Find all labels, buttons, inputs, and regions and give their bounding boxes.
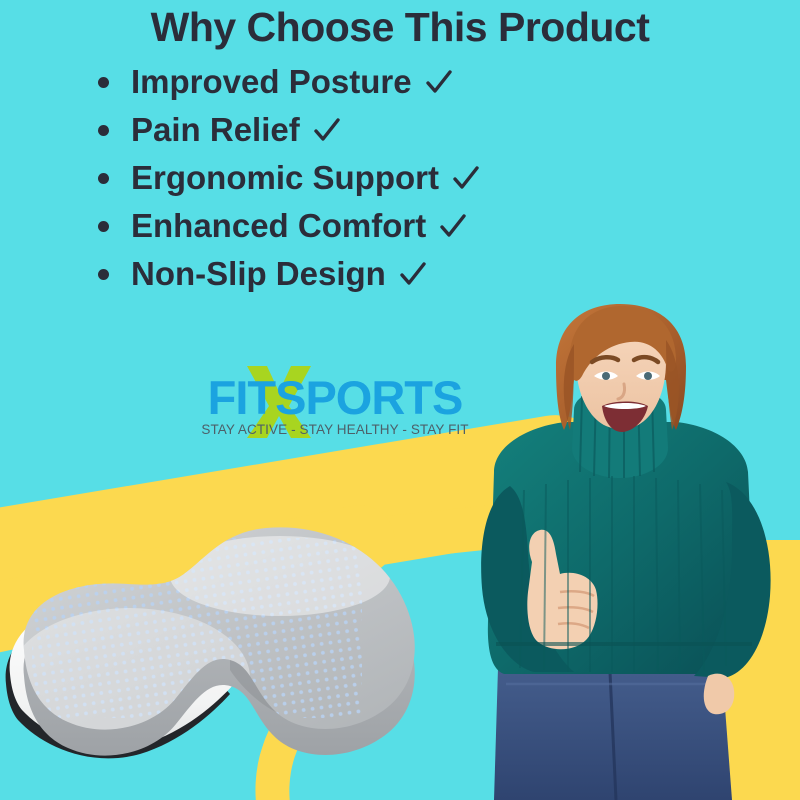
model-eye-left xyxy=(602,372,610,380)
benefit-label: Improved Posture xyxy=(131,63,412,101)
model-eye-right xyxy=(644,372,652,380)
bullet-dot-icon xyxy=(98,77,109,88)
model-photo-woman xyxy=(470,300,800,800)
check-mark-icon xyxy=(312,115,342,145)
check-mark-icon xyxy=(438,211,468,241)
benefit-label: Pain Relief xyxy=(131,111,300,149)
benefits-list: Improved Posture Pain Relief Ergonomic S… xyxy=(98,58,738,298)
benefit-label: Enhanced Comfort xyxy=(131,207,426,245)
product-promo-image: Why Choose This Product Improved Posture… xyxy=(0,0,800,800)
logo-tagline: STAY ACTIVE - STAY HEALTHY - STAY FIT xyxy=(185,422,485,437)
list-item: Improved Posture xyxy=(98,58,738,106)
page-title: Why Choose This Product xyxy=(0,4,800,51)
check-mark-icon xyxy=(398,259,428,289)
bullet-dot-icon xyxy=(98,173,109,184)
brand-logo: FITSPORTS STAY ACTIVE - STAY HEALTHY - S… xyxy=(185,368,485,446)
list-item: Non-Slip Design xyxy=(98,250,738,298)
bullet-dot-icon xyxy=(98,221,109,232)
product-image-seat-cushion xyxy=(0,498,480,800)
bullet-dot-icon xyxy=(98,125,109,136)
check-mark-icon xyxy=(451,163,481,193)
list-item: Enhanced Comfort xyxy=(98,202,738,250)
logo-wordmark: FITSPORTS xyxy=(185,374,485,421)
bullet-dot-icon xyxy=(98,269,109,280)
list-item: Pain Relief xyxy=(98,106,738,154)
list-item: Ergonomic Support xyxy=(98,154,738,202)
benefit-label: Ergonomic Support xyxy=(131,159,439,197)
check-mark-icon xyxy=(424,67,454,97)
benefit-label: Non-Slip Design xyxy=(131,255,386,293)
model-hand-right xyxy=(704,674,735,715)
